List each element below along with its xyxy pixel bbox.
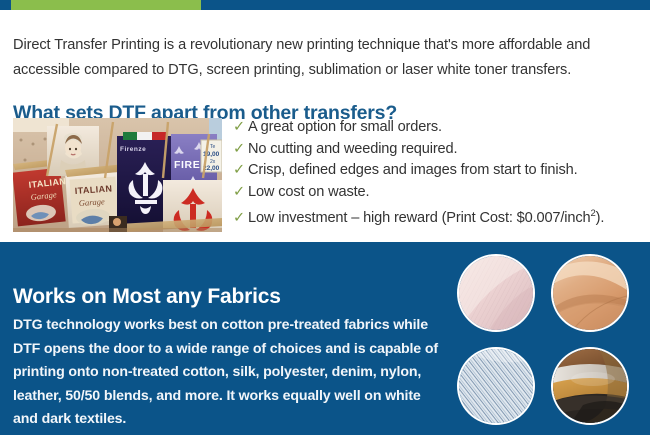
check-icon: ✓ [233,182,248,204]
benefit-label: No cutting and weeding required. [248,139,457,161]
benefit-label: A great option for small orders. [248,117,442,139]
list-item: ✓ A great option for small orders. [233,117,648,139]
svg-text:Firenze: Firenze [120,146,146,153]
fabric-swatch-pink-knit [457,254,535,332]
list-item: ✓ Low cost on waste. [233,182,648,204]
benefits-list: ✓ A great option for small orders. ✓ No … [233,117,648,225]
intro-section: Direct Transfer Printing is a revolution… [0,10,650,242]
svg-text:Garage: Garage [78,196,105,208]
printed-shirts-photo: ITALIAN Garage [13,118,222,232]
benefit-label: Crisp, defined edges and images from sta… [248,160,578,182]
intro-paragraph: Direct Transfer Printing is a revolution… [13,33,613,83]
fabrics-section-body: DTG technology works best on cotton pre-… [13,314,438,432]
fabric-swatch-blue-denim [457,347,535,425]
fabrics-section: Works on Most any Fabrics DTG technology… [0,242,650,435]
list-item: ✓ No cutting and weeding required. [233,139,648,161]
fabric-swatch-grid [455,252,645,432]
check-icon: ✓ [233,117,248,139]
fabrics-section-title: Works on Most any Fabrics [13,285,281,309]
fabric-swatch-tan-satin [551,254,629,332]
benefit-label: Low cost on waste. [248,182,369,204]
check-icon: ✓ [233,208,248,230]
top-accent-bar-green-segment [11,0,201,10]
svg-text:Te: Te [210,144,216,150]
list-item: ✓ Low investment – high reward (Print Co… [233,203,648,225]
benefit-label-tail: ). [596,210,605,226]
fabric-swatch-leather-mix [551,347,629,425]
list-item: ✓ Crisp, defined edges and images from s… [233,160,648,182]
benefit-label-head: Low investment – high reward (Print Cost… [248,210,590,226]
benefit-label-with-superscript: Low investment – high reward (Print Cost… [248,203,604,229]
check-icon: ✓ [233,160,248,182]
check-icon: ✓ [233,139,248,161]
top-accent-bar [0,0,650,10]
